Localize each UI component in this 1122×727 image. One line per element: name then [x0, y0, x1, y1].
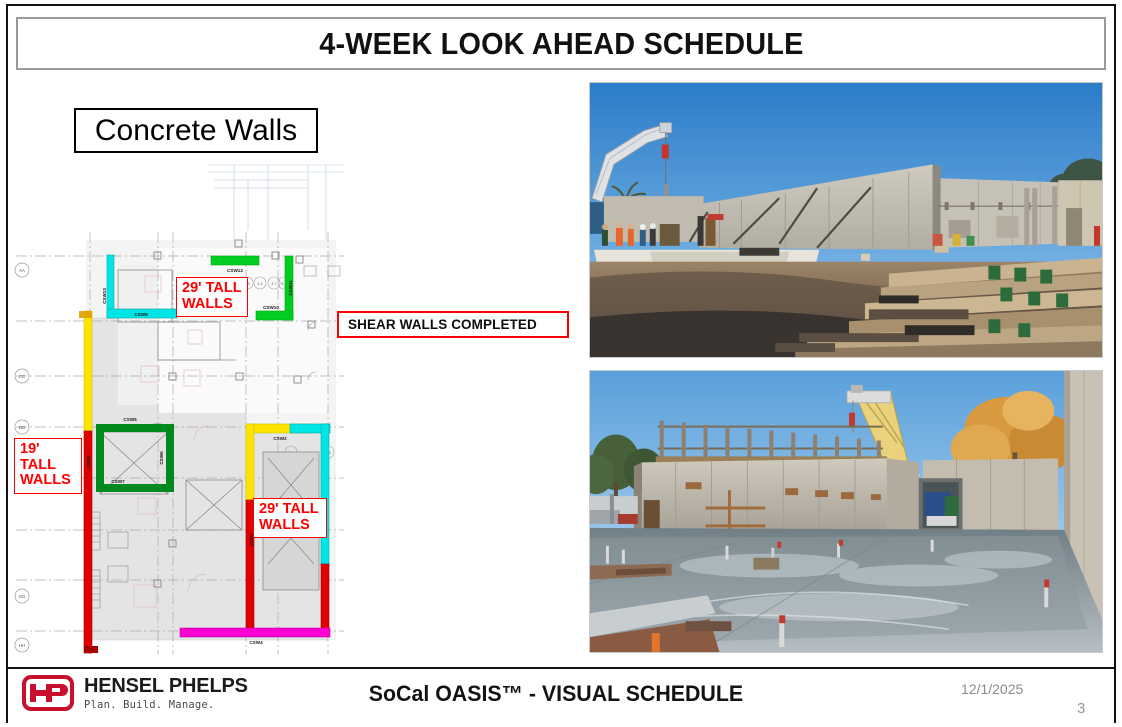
site-photo-wall-enclosure-image: [590, 371, 1102, 652]
svg-text:4.7: 4.7: [271, 281, 277, 286]
svg-text:CSW6: CSW6: [159, 451, 164, 465]
floor-plan-title-box: Concrete Walls: [74, 108, 318, 153]
svg-text:HH: HH: [19, 643, 25, 648]
svg-text:CSW12: CSW12: [227, 268, 243, 273]
svg-text:4.2: 4.2: [257, 281, 263, 286]
floor-plan-panel[interactable]: AA CC DD EE GG HH 21 22 23 24 24.6 25 3.…: [8, 80, 348, 655]
callout-19ft-tall-walls: 19' TALL WALLS: [14, 438, 82, 494]
svg-text:GG: GG: [19, 594, 26, 599]
slide-title-box: 4-WEEK LOOK AHEAD SCHEDULE: [16, 17, 1106, 70]
floor-plan-title: Concrete Walls: [95, 116, 297, 146]
floor-plan-drawing: AA CC DD EE GG HH 21 22 23 24 24.6 25 3.…: [8, 80, 348, 655]
page-number: 3: [1077, 700, 1085, 717]
site-photo-tilt-up-walls-image: [590, 83, 1102, 357]
svg-text:CSW9: CSW9: [134, 312, 148, 317]
hensel-phelps-mark-icon: [22, 675, 74, 711]
svg-text:CSW7: CSW7: [111, 479, 125, 484]
svg-text:CSW2: CSW2: [273, 436, 287, 441]
page-title: 4-WEEK LOOK AHEAD SCHEDULE: [319, 26, 803, 62]
shear-walls-completed-label: SHEAR WALLS COMPLETED: [339, 317, 537, 332]
svg-text:CSW8: CSW8: [86, 455, 91, 469]
site-photo-wall-enclosure[interactable]: [589, 370, 1103, 653]
company-name: HENSEL PHELPS: [84, 676, 248, 696]
svg-text:CSW4: CSW4: [249, 640, 263, 645]
slide-date: 12/1/2025: [961, 681, 1023, 697]
svg-text:CSW13: CSW13: [102, 288, 107, 304]
slide-canvas: 4-WEEK LOOK AHEAD SCHEDULE: [0, 0, 1122, 727]
callout-29ft-tall-walls-top: 29' TALL WALLS: [176, 277, 248, 317]
svg-text:CSW10: CSW10: [263, 305, 279, 310]
site-photo-tilt-up-walls[interactable]: [589, 82, 1103, 358]
svg-text:DD: DD: [19, 425, 25, 430]
project-title: SoCal OASIS™ - VISUAL SCHEDULE: [369, 681, 743, 707]
svg-text:CSW5: CSW5: [123, 417, 137, 422]
hensel-phelps-logo: HENSEL PHELPS Plan. Build. Manage.: [22, 675, 248, 711]
callout-29ft-tall-walls-bottom: 29' TALL WALLS: [253, 498, 327, 538]
svg-text:CSW11: CSW11: [288, 280, 293, 296]
company-tagline: Plan. Build. Manage.: [84, 700, 248, 711]
shear-walls-completed-badge: SHEAR WALLS COMPLETED: [337, 311, 569, 338]
svg-text:CC: CC: [19, 374, 25, 379]
svg-text:AA: AA: [19, 268, 25, 273]
slide-footer: HENSEL PHELPS Plan. Build. Manage. SoCal…: [8, 667, 1114, 723]
